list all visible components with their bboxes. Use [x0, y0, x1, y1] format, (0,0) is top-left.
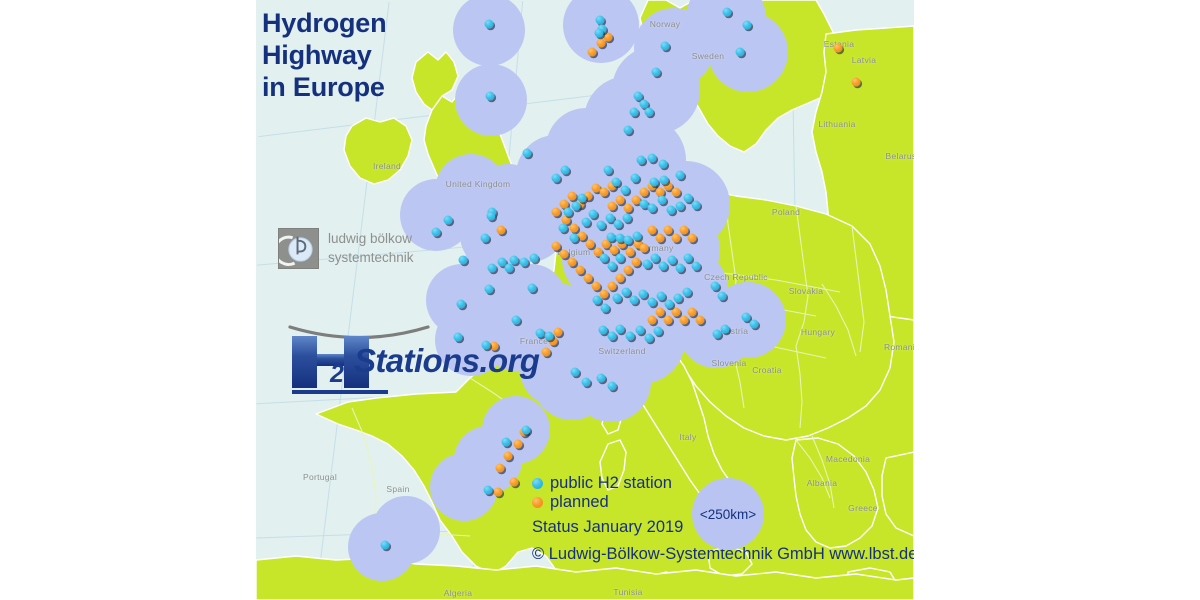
public-station-dot[interactable] [692, 201, 701, 210]
country-label: Norway [650, 19, 681, 29]
lbst-logo[interactable]: ludwig bölkow systemtechnik [278, 228, 414, 269]
public-station-dot[interactable] [488, 264, 497, 273]
public-station-dot[interactable] [723, 8, 732, 17]
legend-label-public: public H2 station [550, 474, 672, 493]
lbst-globe-icon [278, 228, 319, 269]
public-station-dot[interactable] [742, 313, 751, 322]
planned-station-dot[interactable] [688, 308, 697, 317]
planned-station-dot[interactable] [624, 204, 633, 213]
public-station-dot[interactable] [582, 218, 591, 227]
public-station-dot[interactable] [571, 368, 580, 377]
public-station-dot[interactable] [614, 220, 623, 229]
planned-station-dot[interactable] [510, 478, 519, 487]
country-label: Slovenia [711, 358, 746, 368]
public-station-dot[interactable] [601, 304, 610, 313]
public-station-dot[interactable] [623, 214, 632, 223]
public-station-dot[interactable] [621, 186, 630, 195]
public-station-dot[interactable] [600, 254, 609, 263]
public-station-dot[interactable] [667, 206, 676, 215]
country-label: Albania [807, 478, 837, 488]
planned-station-dot[interactable] [494, 488, 503, 497]
public-station-dot[interactable] [485, 285, 494, 294]
planned-station-dot[interactable] [608, 282, 617, 291]
public-station-dot[interactable] [651, 254, 660, 263]
letterbox-left [0, 0, 256, 600]
public-station-dot[interactable] [599, 326, 608, 335]
public-station-dot[interactable] [624, 236, 633, 245]
planned-station-dot[interactable] [632, 258, 641, 267]
public-station-dot[interactable] [484, 486, 493, 495]
public-station-dot[interactable] [522, 426, 531, 435]
country-label: Spain [386, 484, 409, 494]
public-station-dot[interactable] [736, 48, 745, 57]
country-label: Lithuania [818, 119, 855, 129]
country-label: Tunisia [613, 587, 642, 597]
public-station-dot[interactable] [486, 92, 495, 101]
public-station-dot[interactable] [593, 296, 602, 305]
planned-station-dot[interactable] [648, 226, 657, 235]
planned-station-dot[interactable] [626, 248, 635, 257]
public-station-dot[interactable] [633, 232, 642, 241]
public-station-dot[interactable] [750, 320, 759, 329]
scale-bubble-label: <250km> [700, 507, 756, 522]
public-station-dot[interactable] [616, 325, 625, 334]
public-station-dot[interactable] [444, 216, 453, 225]
planned-station-dot[interactable] [680, 316, 689, 325]
planned-station-dot[interactable] [672, 308, 681, 317]
scale-bubble: <250km> [692, 478, 764, 550]
planned-station-dot[interactable] [584, 274, 593, 283]
planned-station-dot[interactable] [656, 308, 665, 317]
status-text: Status January 2019 [532, 518, 683, 537]
planned-station-dot[interactable] [696, 316, 705, 325]
title-line-1: Hydrogen [262, 8, 386, 40]
public-station-dot[interactable] [718, 292, 727, 301]
legend-item-planned: planned [532, 493, 672, 512]
planned-station-dot[interactable] [640, 188, 649, 197]
public-station-dot[interactable] [631, 174, 640, 183]
planned-station-dot[interactable] [497, 226, 506, 235]
public-station-dot[interactable] [636, 326, 645, 335]
planned-station-dot[interactable] [560, 250, 569, 259]
public-station-dot[interactable] [561, 166, 570, 175]
public-station-dot[interactable] [661, 42, 670, 51]
public-station-dot[interactable] [676, 171, 685, 180]
planned-station-dot[interactable] [542, 348, 551, 357]
public-station-dot[interactable] [612, 178, 621, 187]
planned-station-dot[interactable] [608, 202, 617, 211]
planned-station-dot[interactable] [616, 274, 625, 283]
planned-station-dot[interactable] [568, 258, 577, 267]
public-station-dot[interactable] [668, 256, 677, 265]
public-station-dot[interactable] [683, 288, 692, 297]
public-station-dot[interactable] [652, 68, 661, 77]
h2stations-logo[interactable]: 2 Stations.org [276, 324, 521, 390]
public-station-dot[interactable] [674, 294, 683, 303]
public-station-dot[interactable] [613, 294, 622, 303]
planned-station-dot[interactable] [664, 316, 673, 325]
country-label: Sweden [692, 51, 725, 61]
public-station-dot[interactable] [487, 212, 496, 221]
planned-station-dot[interactable] [597, 39, 606, 48]
planned-station-dot[interactable] [568, 192, 577, 201]
public-station-dot[interactable] [595, 29, 604, 38]
public-station-dot[interactable] [676, 202, 685, 211]
h2-wordmark: Stations.org [354, 342, 539, 380]
legend-label-planned: planned [550, 493, 609, 512]
page-title: Hydrogen Highway in Europe [262, 8, 386, 104]
h2-subscript: 2 [330, 360, 344, 389]
public-station-dot[interactable] [692, 262, 701, 271]
public-station-dot[interactable] [648, 204, 657, 213]
public-station-dot[interactable] [645, 108, 654, 117]
title-line-3: in Europe [262, 72, 386, 104]
public-station-dot[interactable] [608, 332, 617, 341]
public-station-dot[interactable] [608, 262, 617, 271]
public-station-dot[interactable] [545, 332, 554, 341]
planned-station-dot[interactable] [672, 188, 681, 197]
public-station-dot[interactable] [604, 166, 613, 175]
planned-station-dot[interactable] [514, 440, 523, 449]
public-station-dot[interactable] [481, 234, 490, 243]
public-station-dot[interactable] [570, 234, 579, 243]
planned-station-dot[interactable] [554, 328, 563, 337]
public-station-dot[interactable] [626, 332, 635, 341]
public-station-dot[interactable] [624, 126, 633, 135]
public-station-dot[interactable] [654, 327, 663, 336]
public-station-dot[interactable] [711, 282, 720, 291]
country-label: Greece [848, 503, 878, 513]
planned-station-dot[interactable] [496, 464, 505, 473]
public-station-dot[interactable] [536, 329, 545, 338]
public-station-dot[interactable] [658, 196, 667, 205]
public-station-dot[interactable] [530, 254, 539, 263]
planned-station-dot[interactable] [640, 244, 649, 253]
public-station-dot[interactable] [657, 292, 666, 301]
planned-station-dot[interactable] [688, 234, 697, 243]
country-label: United Kingdom [446, 179, 511, 189]
public-station-dot[interactable] [676, 264, 685, 273]
public-station-dot[interactable] [650, 178, 659, 187]
public-station-dot[interactable] [659, 262, 668, 271]
public-station-dot[interactable] [630, 108, 639, 117]
public-station-dot[interactable] [616, 254, 625, 263]
planned-station-dot[interactable] [578, 232, 587, 241]
country-label: Belarus [886, 151, 914, 161]
planned-station-dot[interactable] [588, 48, 597, 57]
public-station-dot[interactable] [572, 202, 581, 211]
public-station-dot[interactable] [528, 284, 537, 293]
planned-station-dot[interactable] [680, 226, 689, 235]
public-station-dot[interactable] [637, 156, 646, 165]
public-station-dot[interactable] [643, 260, 652, 269]
country-label: Slovakia [789, 286, 824, 296]
public-station-dot[interactable] [607, 233, 616, 242]
planned-station-dot[interactable] [656, 234, 665, 243]
public-station-dot[interactable] [648, 298, 657, 307]
public-station-dot[interactable] [721, 325, 730, 334]
public-station-dot[interactable] [630, 296, 639, 305]
lbst-line-2: systemtechnik [328, 249, 414, 267]
planned-station-dot[interactable] [600, 188, 609, 197]
public-station-dot[interactable] [589, 210, 598, 219]
public-station-dot[interactable] [608, 382, 617, 391]
planned-station-icon [532, 497, 543, 508]
public-station-dot[interactable] [457, 300, 466, 309]
public-station-dot[interactable] [659, 160, 668, 169]
country-label: Portugal [303, 472, 337, 482]
country-label: Romania [884, 342, 914, 352]
letterbox-right [914, 0, 1200, 600]
public-station-dot[interactable] [648, 154, 657, 163]
planned-station-dot[interactable] [624, 266, 633, 275]
country-label: Italy [679, 432, 696, 442]
public-station-dot[interactable] [596, 16, 605, 25]
country-label: Ireland [373, 161, 401, 171]
country-label: Hungary [801, 327, 835, 337]
country-label: Algeria [444, 588, 473, 598]
lbst-logo-text: ludwig bölkow systemtechnik [328, 230, 414, 266]
public-station-dot[interactable] [597, 374, 606, 383]
public-station-dot[interactable] [645, 334, 654, 343]
planned-station-dot[interactable] [592, 282, 601, 291]
planned-station-dot[interactable] [576, 266, 585, 275]
public-station-dot[interactable] [622, 288, 631, 297]
public-station-dot[interactable] [523, 149, 532, 158]
legend: public H2 station planned [532, 474, 672, 512]
planned-station-dot[interactable] [834, 44, 843, 53]
planned-station-dot[interactable] [504, 452, 513, 461]
europe-map[interactable]: IrelandUnited KingdomFranceSpainPortugal… [256, 0, 914, 600]
public-station-dot[interactable] [582, 378, 591, 387]
country-label: Croatia [752, 365, 782, 375]
title-line-2: Highway [262, 40, 386, 72]
planned-station-dot[interactable] [648, 316, 657, 325]
public-station-dot[interactable] [381, 541, 390, 550]
country-label: Poland [772, 207, 800, 217]
public-station-dot[interactable] [665, 300, 674, 309]
public-station-dot[interactable] [684, 194, 693, 203]
public-station-dot[interactable] [597, 221, 606, 230]
planned-station-dot[interactable] [586, 240, 595, 249]
country-label: Czech Republic [704, 272, 768, 282]
public-station-dot[interactable] [578, 194, 587, 203]
country-label: Switzerland [598, 346, 645, 356]
public-station-dot[interactable] [743, 21, 752, 30]
public-station-dot[interactable] [552, 174, 561, 183]
public-station-dot[interactable] [684, 254, 693, 263]
public-station-dot[interactable] [485, 20, 494, 29]
planned-station-dot[interactable] [552, 242, 561, 251]
public-station-dot[interactable] [559, 224, 568, 233]
planned-station-dot[interactable] [552, 208, 561, 217]
planned-station-dot[interactable] [852, 78, 861, 87]
public-station-dot[interactable] [639, 290, 648, 299]
public-station-dot[interactable] [510, 256, 519, 265]
planned-station-dot[interactable] [672, 234, 681, 243]
page-root: IrelandUnited KingdomFranceSpainPortugal… [0, 0, 1200, 600]
public-station-dot[interactable] [660, 176, 669, 185]
planned-station-dot[interactable] [616, 196, 625, 205]
public-station-dot[interactable] [564, 208, 573, 217]
public-station-dot[interactable] [520, 258, 529, 267]
legend-item-public: public H2 station [532, 474, 672, 493]
planned-station-dot[interactable] [664, 226, 673, 235]
public-station-dot[interactable] [502, 438, 511, 447]
public-station-dot[interactable] [505, 264, 514, 273]
public-station-dot[interactable] [459, 256, 468, 265]
public-station-dot[interactable] [432, 228, 441, 237]
country-label: Latvia [852, 55, 876, 65]
lbst-line-1: ludwig bölkow [328, 230, 414, 248]
public-station-icon [532, 478, 543, 489]
planned-station-dot[interactable] [570, 224, 579, 233]
country-label: Macedonia [826, 454, 870, 464]
